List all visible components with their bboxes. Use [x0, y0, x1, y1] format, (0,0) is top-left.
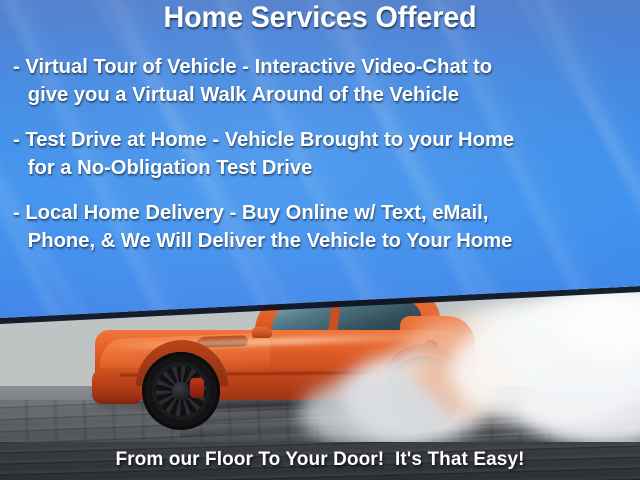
brake-caliper [190, 378, 204, 398]
service-item-virtual-tour: - Virtual Tour of Vehicle - Interactive … [13, 53, 620, 109]
service-item-local-home-delivery: - Local Home Delivery - Buy Online w/ Te… [13, 199, 620, 255]
page-title: Home Services Offered [13, 1, 627, 35]
service-item-test-drive-at-home: - Test Drive at Home - Vehicle Brought t… [13, 126, 620, 182]
services-list: - Virtual Tour of Vehicle - Interactive … [13, 53, 629, 272]
side-mirror [252, 327, 272, 338]
service-line-1: - Virtual Tour of Vehicle - Interactive … [13, 55, 492, 78]
footer-tagline: From our Floor To Your Door! It's That E… [0, 449, 640, 471]
smoke-cloud [300, 378, 440, 448]
service-line-2: give you a Virtual Walk Around of the Ve… [13, 81, 620, 109]
service-line-1: - Local Home Delivery - Buy Online w/ Te… [13, 201, 488, 224]
service-line-2: Phone, & We Will Deliver the Vehicle to … [13, 227, 620, 255]
service-line-2: for a No-Obligation Test Drive [13, 154, 620, 182]
wheel-hub [172, 382, 190, 400]
promo-banner: Home Services Offered - Virtual Tour of … [0, 0, 640, 480]
service-line-1: - Test Drive at Home - Vehicle Brought t… [13, 128, 514, 151]
